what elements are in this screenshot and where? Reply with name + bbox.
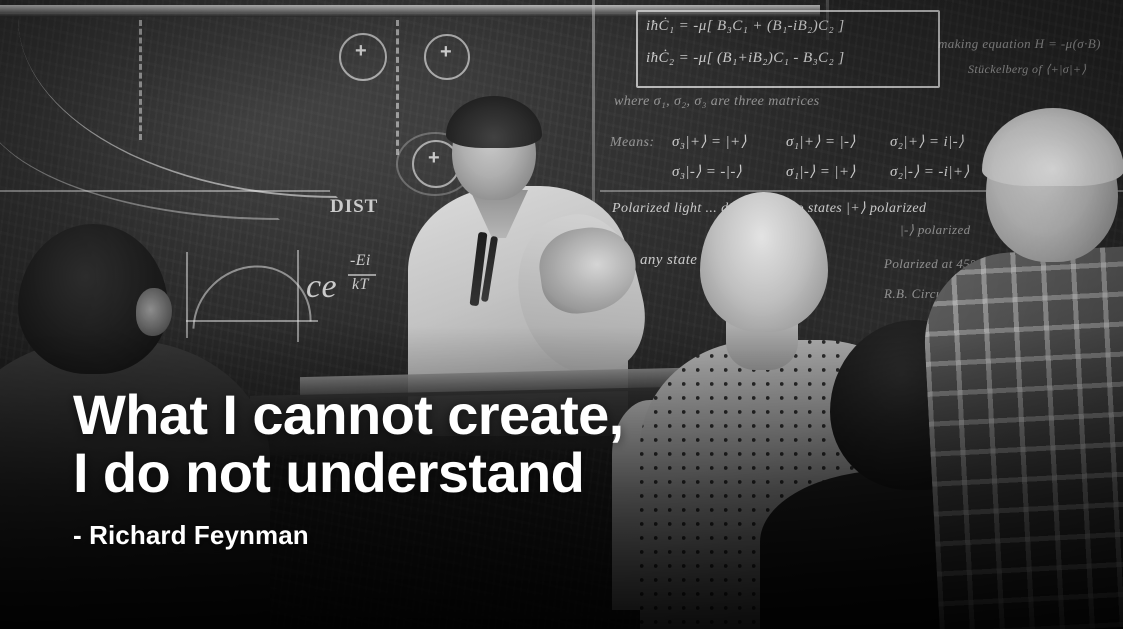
quote-overlay: What I cannot create, I do not understan…: [73, 386, 833, 551]
quote-attribution: - Richard Feynman: [73, 520, 833, 551]
quote-card: + + + + DIST ce -Ei kT iħĊ₁ = -μ[ B₃C₁ +…: [0, 0, 1123, 629]
quote-line-2: I do not understand: [73, 444, 833, 502]
quote-line-1: What I cannot create,: [73, 386, 833, 444]
